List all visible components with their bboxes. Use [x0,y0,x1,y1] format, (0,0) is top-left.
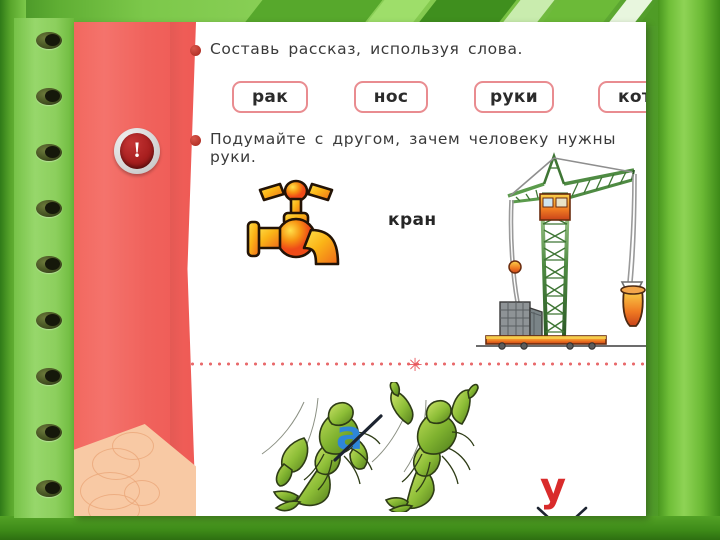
faucet-label: кран [388,210,437,230]
word-card-kot[interactable]: кот [598,81,646,113]
binding-ring-icon [36,144,62,161]
attention-badge-glyph: ! [120,133,154,169]
highlighted-letter-u: у [532,470,592,516]
binding-ring-icon [36,480,62,497]
binding-ring-icon [36,424,62,441]
bottom-frame-edge [0,516,720,540]
binding-ring-icon [36,312,62,329]
textbook-page: ! Составь рассказ, используя слова. рак … [74,22,646,516]
margin-shadow [170,22,184,516]
word-card-ruki[interactable]: руки [474,81,554,113]
binding-ring-icon [36,88,62,105]
round-bullet-icon [190,135,201,146]
task-line-1: Составь рассказ, используя слова. [190,40,523,58]
binding-ring-icon [36,256,62,273]
spiral-binding-strip [14,18,74,518]
binding-ring-icon [36,368,62,385]
right-frame-edge [658,0,720,540]
binding-ring-icon [36,32,62,49]
round-bullet-icon [190,45,201,56]
word-card-rak[interactable]: рак [232,81,308,113]
page-content: Составь рассказ, используя слова. рак но… [192,22,646,516]
dotted-divider: ✳ [188,357,646,371]
slide-canvas: ! Составь рассказ, используя слова. рак … [0,0,720,540]
water-faucet-illustration [238,172,358,272]
word-card-row: рак нос руки кот [232,81,646,113]
crossed-out-letter-a: а [332,414,384,466]
binding-ring-icon [36,200,62,217]
attention-badge: ! [114,128,160,174]
word-card-nos[interactable]: нос [354,81,428,113]
task-1-text: Составь рассказ, используя слова. [210,40,523,58]
divider-star-icon: ✳ [406,356,424,374]
tower-crane-illustration [472,150,646,360]
